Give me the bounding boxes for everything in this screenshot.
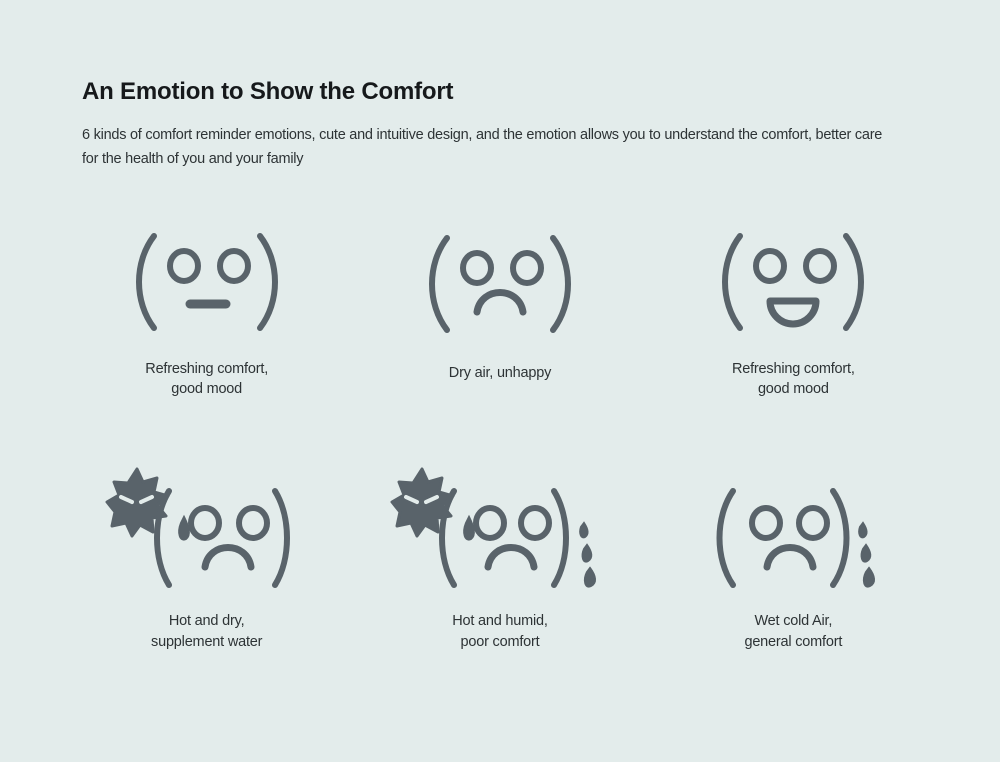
emotion-grid: Refreshing comfort, good mood Dry air, u… — [60, 225, 940, 650]
emotion-comfort-page: An Emotion to Show the Comfort 6 kinds o… — [0, 0, 1000, 762]
hot-humid-face-icon — [392, 475, 607, 593]
wet-cold-face-icon — [701, 475, 886, 593]
page-header: An Emotion to Show the Comfort 6 kinds o… — [82, 78, 912, 172]
emotion-card-wet-cold-air: Wet cold Air, general comfort — [647, 475, 940, 650]
emotion-caption: Dry air, unhappy — [449, 363, 551, 384]
emotion-card-refreshing-comfort: Refreshing comfort, good mood — [60, 225, 353, 400]
sweat-drop-icon — [179, 517, 189, 540]
emotion-caption: Wet cold Air, general comfort — [744, 611, 842, 652]
neutral-face-icon — [122, 225, 292, 339]
emotion-card-refreshing-comfort-2: Refreshing comfort, good mood — [647, 225, 940, 400]
humidity-drops-icon — [581, 523, 596, 587]
emotion-card-hot-and-humid: Hot and humid, poor comfort — [353, 475, 646, 650]
emotion-caption: Refreshing comfort, good mood — [145, 359, 268, 400]
hot-dry-face-icon — [107, 475, 307, 593]
emotion-caption: Refreshing comfort, good mood — [732, 359, 855, 400]
page-title: An Emotion to Show the Comfort — [82, 78, 912, 107]
humidity-drops-icon — [859, 523, 874, 587]
sweat-drop-icon — [465, 517, 475, 540]
page-subtitle: 6 kinds of comfort reminder emotions, cu… — [82, 124, 887, 172]
sad-face-icon — [415, 225, 585, 343]
emotion-caption: Hot and humid, poor comfort — [452, 611, 548, 652]
emotion-card-dry-air-unhappy: Dry air, unhappy — [353, 225, 646, 400]
emotion-caption: Hot and dry, supplement water — [151, 611, 262, 652]
happy-face-icon — [708, 225, 878, 339]
emotion-card-hot-and-dry: Hot and dry, supplement water — [60, 475, 353, 650]
